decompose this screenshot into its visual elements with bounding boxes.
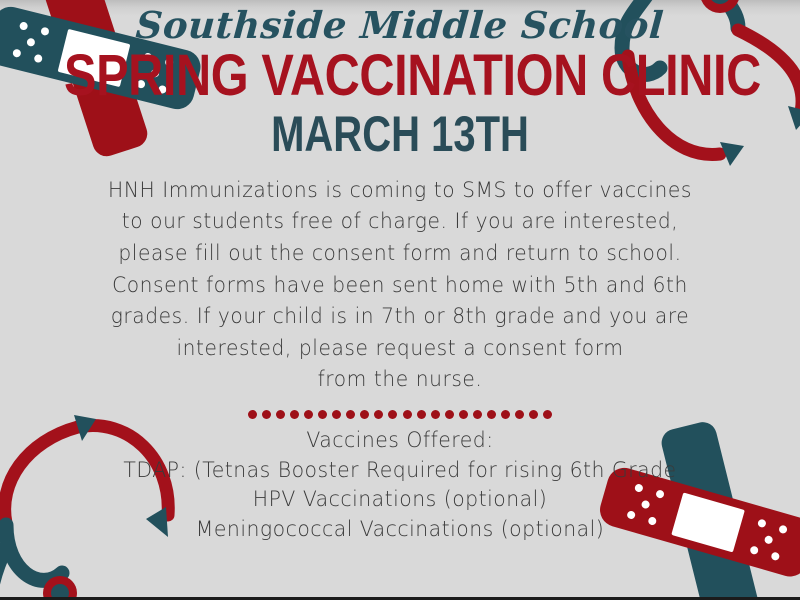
body-line: Consent forms have been sent home with 5… [71,270,729,302]
page-title: SPRING VACCINATION CLINIC [64,45,736,105]
divider-dot [473,410,482,419]
divider-dot [501,410,510,419]
divider-dot [304,410,313,419]
body-line: from the nurse. [71,364,729,396]
divider-dot [487,410,496,419]
divider-dot [346,410,355,419]
divider-dot [445,410,454,419]
divider-dot [403,410,412,419]
body-paragraph: HNH Immunizations is coming to SMS to of… [71,159,729,396]
body-line: please fill out the consent form and ret… [71,238,729,270]
body-line: to our students free of charge. If you a… [71,206,729,238]
body-line: HNH Immunizations is coming to SMS to of… [71,175,729,207]
body-line: grades. If your child is in 7th or 8th g… [71,301,729,333]
vaccine-line: Meningococcal Vaccinations (optional) [39,515,761,545]
divider-dot [431,410,440,419]
vaccines-heading: Vaccines Offered: [39,426,761,456]
vaccine-line: HPV Vaccinations (optional) [39,485,761,515]
event-date: MARCH 13TH [80,105,720,159]
vaccine-line: TDAP: (Tetnas Booster Required for risin… [39,456,761,486]
divider-dot [318,410,327,419]
divider-dot [332,410,341,419]
divider-dot [417,410,426,419]
divider-dot [276,410,285,419]
divider-dot [543,410,552,419]
divider-dot [374,410,383,419]
divider-dot [290,410,299,419]
divider-dot [459,410,468,419]
dotted-divider [248,408,553,420]
flyer-content: Southside Middle School SPRING VACCINATI… [0,0,800,545]
vaccination-clinic-flyer: Southside Middle School SPRING VACCINATI… [0,0,800,600]
divider-dot [262,410,271,419]
school-name: Southside Middle School [0,0,800,45]
divider-dot [248,410,257,419]
body-line: interested, please request a consent for… [71,333,729,365]
divider-dot [529,410,538,419]
vaccines-offered-section: Vaccines Offered: TDAP: (Tetnas Booster … [39,420,761,545]
divider-dot [388,410,397,419]
divider-dot [360,410,369,419]
divider-dot [515,410,524,419]
